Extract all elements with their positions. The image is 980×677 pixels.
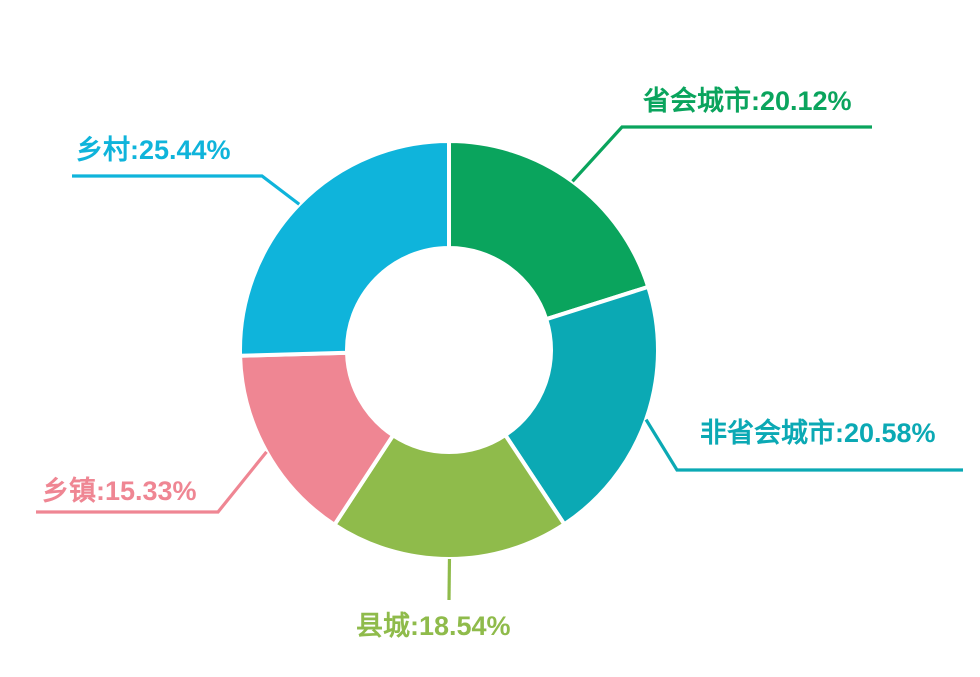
- slice-label-township: 乡镇:15.33%: [42, 478, 197, 505]
- donut-slice[interactable]: [240, 141, 449, 356]
- leader-line: [72, 176, 299, 204]
- slice-label-county-town: 县城:18.54%: [356, 613, 511, 640]
- slice-label-provincial-capital-city: 省会城市:20.12%: [643, 88, 852, 115]
- donut-slice[interactable]: [449, 141, 648, 319]
- slice-label-village: 乡村:25.44%: [76, 137, 231, 164]
- donut-chart-container: 省会城市:20.12% 非省会城市:20.58% 县城:18.54% 乡镇:15…: [0, 0, 980, 677]
- donut-slices-group: [240, 141, 658, 559]
- leader-line: [572, 127, 872, 181]
- slice-label-non-provincial-capital-city: 非省会城市:20.58%: [700, 420, 936, 447]
